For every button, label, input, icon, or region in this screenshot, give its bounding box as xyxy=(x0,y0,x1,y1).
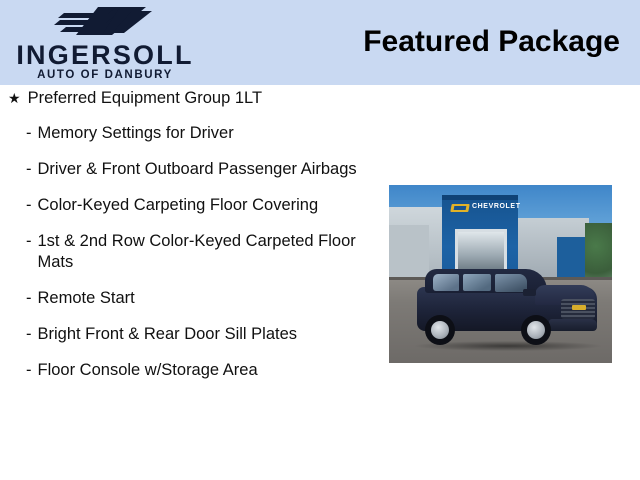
dealer-logo: INGERSOLL AUTO OF DANBURY xyxy=(0,0,210,85)
list-item: - 1st & 2nd Row Color-Keyed Carpeted Flo… xyxy=(0,231,380,273)
list-item: - Floor Console w/Storage Area xyxy=(0,360,380,381)
list-item: - Memory Settings for Driver xyxy=(0,123,380,144)
list-item: - Driver & Front Outboard Passenger Airb… xyxy=(0,159,380,180)
feature-heading-item: ★ Preferred Equipment Group 1LT xyxy=(0,88,380,109)
chevrolet-bowtie-icon xyxy=(450,204,469,212)
vehicle-rear-door-window xyxy=(463,274,491,291)
dash-bullet-icon: - xyxy=(26,360,32,381)
list-item-label: 1st & 2nd Row Color-Keyed Carpeted Floor… xyxy=(38,231,368,273)
photo-tower-band xyxy=(442,195,518,200)
dealer-subtitle: AUTO OF DANBURY xyxy=(6,70,204,82)
dash-bullet-icon: - xyxy=(26,123,32,144)
header-band: INGERSOLL AUTO OF DANBURY Featured Packa… xyxy=(0,0,640,85)
page-title: Featured Package xyxy=(363,22,620,62)
dash-bullet-icon: - xyxy=(26,324,32,345)
dash-bullet-icon: - xyxy=(26,195,32,216)
vehicle-side-mirror xyxy=(523,289,536,296)
list-item-label: Memory Settings for Driver xyxy=(38,123,368,144)
dash-bullet-icon: - xyxy=(26,159,32,180)
vehicle-front-wheel xyxy=(521,315,551,345)
vehicle-photo: CHEVROLET xyxy=(389,185,612,363)
list-item-label: Floor Console w/Storage Area xyxy=(38,360,368,381)
list-item: - Remote Start xyxy=(0,288,380,309)
dealer-name: INGERSOLL xyxy=(6,42,204,69)
dash-bullet-icon: - xyxy=(26,288,32,309)
list-item-label: Remote Start xyxy=(38,288,368,309)
dash-bullet-icon: - xyxy=(26,231,32,252)
vehicle-rear-wheel xyxy=(425,315,455,345)
list-item-label: Bright Front & Rear Door Sill Plates xyxy=(38,324,368,345)
feature-list: ★ Preferred Equipment Group 1LT - Memory… xyxy=(0,88,380,396)
list-item-label: Driver & Front Outboard Passenger Airbag… xyxy=(38,159,368,180)
list-item: - Color-Keyed Carpeting Floor Covering xyxy=(0,195,380,216)
list-item-label: Color-Keyed Carpeting Floor Covering xyxy=(38,195,368,216)
ingersoll-wing-emblem-icon xyxy=(46,2,156,40)
dealership-sign-label: CHEVROLET xyxy=(472,203,521,210)
featured-package-slide: INGERSOLL AUTO OF DANBURY Featured Packa… xyxy=(0,0,640,480)
vehicle-front-bumper xyxy=(549,319,597,331)
vehicle-rear-window xyxy=(433,274,459,291)
feature-heading-label: Preferred Equipment Group 1LT xyxy=(28,88,368,109)
list-item: - Bright Front & Rear Door Sill Plates xyxy=(0,324,380,345)
chevrolet-tahoe-vehicle xyxy=(409,261,599,351)
star-bullet-icon: ★ xyxy=(8,88,21,109)
vehicle-bowtie-icon xyxy=(572,305,586,310)
